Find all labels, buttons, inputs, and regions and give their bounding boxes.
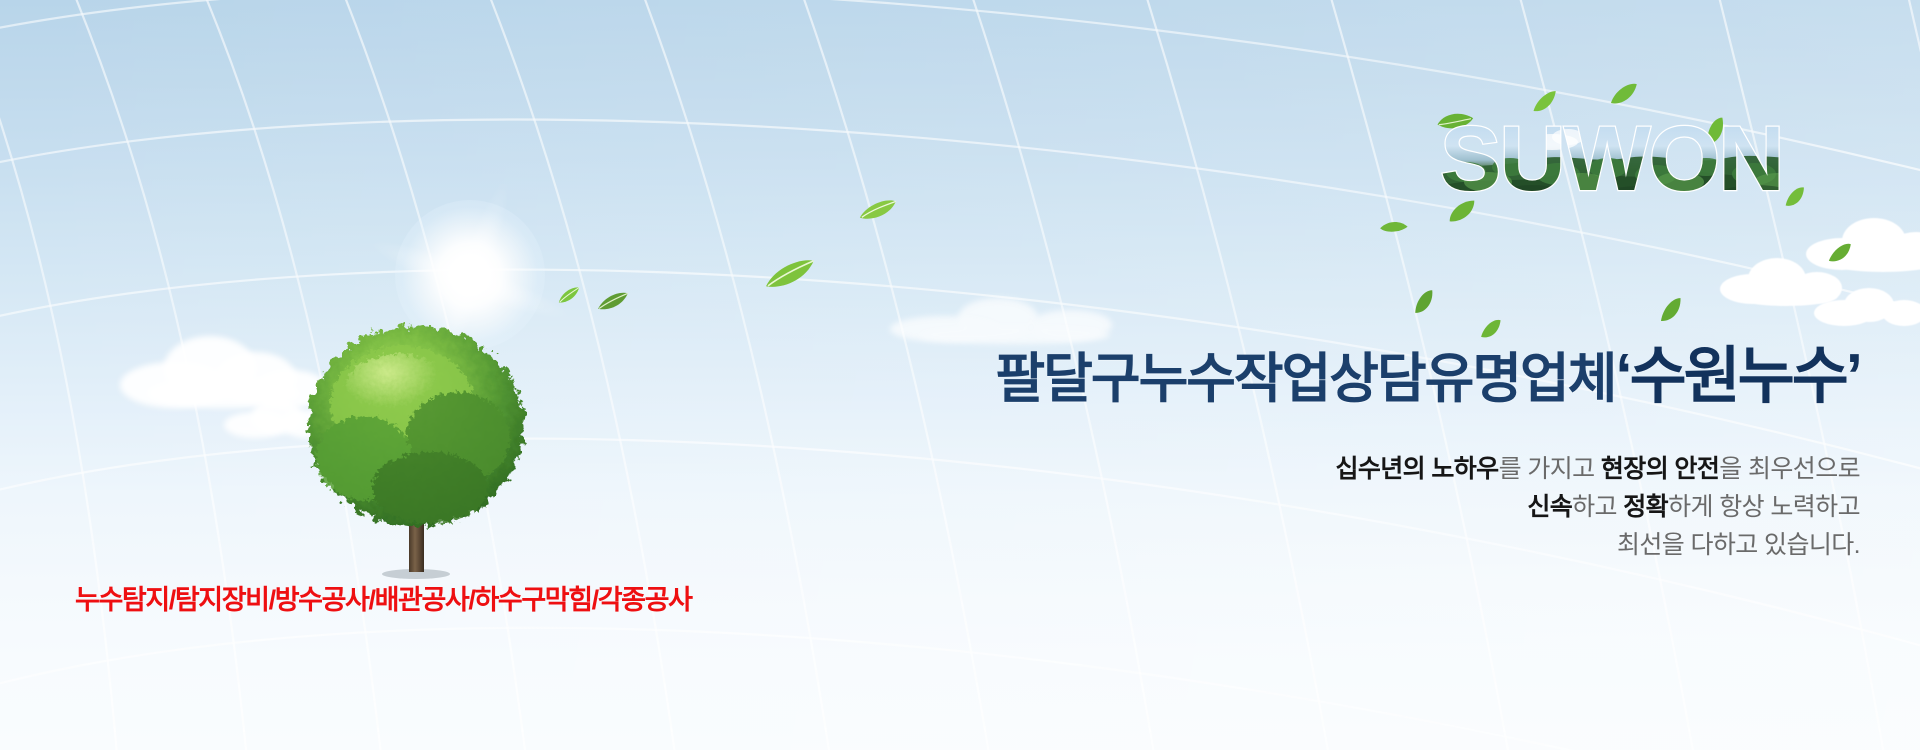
sub-copy: 십수년의 노하우를 가지고 현장의 안전을 최우선으로 신속하고 정확하게 항상… bbox=[860, 450, 1860, 564]
leaf-icon bbox=[1446, 193, 1479, 229]
page-title: 팔달구누수작업상담유명업체‘수원누수’ bbox=[600, 345, 1860, 409]
cloud-right-mid bbox=[1718, 252, 1850, 308]
leaf-icon bbox=[1528, 88, 1563, 116]
leaf-icon bbox=[761, 256, 819, 293]
sub-copy-text-2: 을 최우선으로 bbox=[1719, 455, 1860, 483]
leaf-icon bbox=[1824, 240, 1856, 266]
sun-glow-icon bbox=[395, 200, 545, 350]
service-list: 누수탐지/탐지장비/방수공사/배관공사/하수구막힘/각종공사 bbox=[75, 578, 692, 617]
headline-brand: ‘수원누수’ bbox=[1615, 342, 1860, 411]
sub-copy-text-4: 하게 항상 노력하고 bbox=[1668, 493, 1860, 521]
sub-copy-em-3: 신속 bbox=[1527, 493, 1572, 521]
sub-copy-text-5: 최선을 다하고 있습니다. bbox=[1617, 531, 1860, 559]
tree-illustration bbox=[290, 318, 550, 580]
cloud-right-lower bbox=[1810, 284, 1920, 328]
cloud-left bbox=[112, 322, 342, 414]
leaf-icon bbox=[595, 289, 632, 313]
sub-copy-line-3: 최선을 다하고 있습니다. bbox=[860, 526, 1860, 564]
sub-copy-em-4: 정확 bbox=[1623, 493, 1668, 521]
sun-ray-flare bbox=[252, 62, 688, 498]
leaf-icon bbox=[1606, 80, 1642, 108]
leaf-icon bbox=[1653, 294, 1689, 326]
sub-copy-em-1: 십수년의 노하우 bbox=[1335, 455, 1498, 483]
cloud-center bbox=[880, 290, 1140, 346]
suwon-wordmark-logo: SUWON bbox=[1440, 112, 1840, 212]
leaf-icon bbox=[1779, 183, 1810, 210]
sub-copy-text-1: 를 가지고 bbox=[1499, 455, 1601, 483]
cloud-right-upper bbox=[1802, 212, 1920, 274]
headline-lead: 팔달구누수작업상담유명업체 bbox=[996, 349, 1616, 409]
leaf-icon bbox=[1407, 286, 1441, 317]
leaf-icon bbox=[1434, 100, 1477, 141]
leaf-icon bbox=[857, 197, 899, 222]
sub-copy-text-3: 하고 bbox=[1572, 493, 1623, 521]
cloud-left-small bbox=[218, 392, 338, 440]
leaf-icon bbox=[554, 284, 583, 305]
sub-copy-em-2: 현장의 안전 bbox=[1601, 455, 1719, 483]
leaf-icon bbox=[1476, 316, 1507, 342]
leaf-icon bbox=[1378, 215, 1409, 238]
promo-banner: SUWON 팔달구누수작업상담유명업체‘수원누수’ 십수년의 노하우를 가지고 … bbox=[0, 0, 1920, 750]
sub-copy-line-2: 신속하고 정확하게 항상 노력하고 bbox=[860, 488, 1860, 526]
sub-copy-line-1: 십수년의 노하우를 가지고 현장의 안전을 최우선으로 bbox=[860, 450, 1860, 488]
suwon-logo-text: SUWON bbox=[1440, 112, 1783, 210]
leaf-icon bbox=[1696, 113, 1733, 149]
